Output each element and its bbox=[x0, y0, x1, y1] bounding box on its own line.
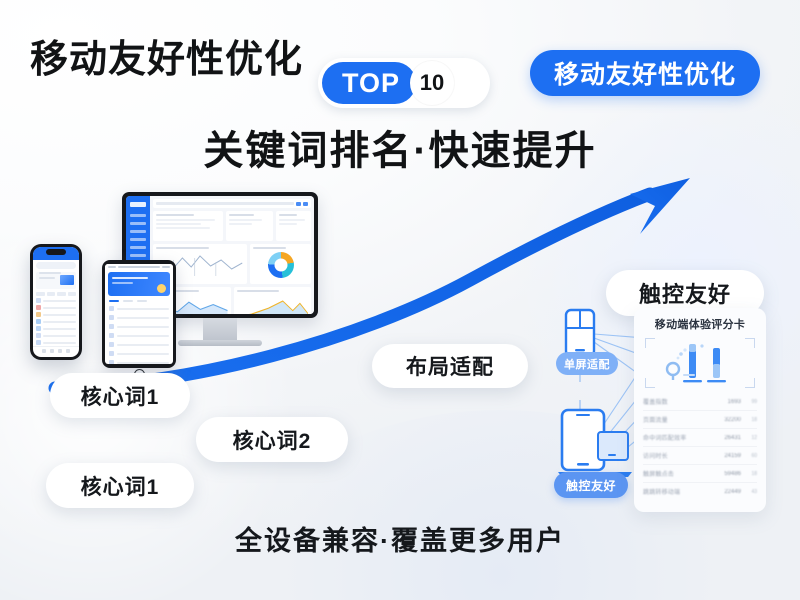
bar-chart-icon bbox=[643, 336, 757, 386]
row-value: 22449 bbox=[715, 489, 741, 495]
device-mockup-group bbox=[24, 192, 324, 392]
keyword-pill-1[interactable]: 核心词1 bbox=[50, 373, 190, 418]
frame-corner-br bbox=[745, 378, 755, 388]
footer-caption: 全设备兼容·覆盖更多用户 bbox=[0, 519, 800, 558]
top-badge-number: 10 bbox=[410, 61, 454, 105]
frame-corner-bl bbox=[645, 378, 655, 388]
table-row: 跳跳转移动端 22449 43 bbox=[643, 483, 757, 500]
top-badge-label: TOP bbox=[322, 62, 416, 104]
score-card-title: 移动端体验评分卡 bbox=[643, 316, 757, 332]
dashboard-mini-card bbox=[276, 211, 311, 241]
monitor-stand bbox=[203, 318, 237, 340]
phone-result-card bbox=[36, 272, 76, 289]
frame-corner-tr bbox=[745, 338, 755, 348]
row-name: 触屏触点击 bbox=[643, 469, 715, 478]
table-row: 触屏触点击 59486 18 bbox=[643, 465, 757, 483]
row-name: 页面流量 bbox=[643, 415, 715, 424]
keyword-pill-3[interactable]: 核心词1 bbox=[46, 463, 194, 508]
diagram-top-pill[interactable]: 单屏适配 bbox=[556, 352, 618, 375]
dashboard-toolbar bbox=[153, 199, 311, 208]
row-delta: 18 bbox=[741, 471, 757, 477]
table-row: 访问时长 24159 60 bbox=[643, 447, 757, 465]
row-name: 命中词匹配效率 bbox=[643, 433, 715, 442]
tablet-frame bbox=[102, 260, 176, 368]
row-value: 59486 bbox=[715, 471, 741, 477]
tablet-mockup bbox=[102, 260, 176, 380]
row-delta: 43 bbox=[741, 489, 757, 495]
row-name: 覆盖指数 bbox=[643, 397, 715, 406]
phone-mockup bbox=[30, 244, 82, 360]
dashboard-filter-card bbox=[153, 211, 223, 241]
row-delta: 12 bbox=[741, 435, 757, 441]
phone-frame bbox=[30, 244, 82, 360]
donut-chart-icon bbox=[268, 252, 294, 278]
row-value: 24159 bbox=[715, 453, 741, 459]
table-row: 命中词匹配效率 26431 12 bbox=[643, 429, 757, 447]
row-delta: 60 bbox=[741, 453, 757, 459]
score-card-chart bbox=[643, 336, 757, 390]
area-chart-icon-2 bbox=[237, 295, 309, 314]
tablet-banner bbox=[108, 272, 170, 296]
phone-search-bar bbox=[36, 262, 76, 269]
result-thumbnail-icon bbox=[60, 275, 74, 285]
row-delta: 18 bbox=[741, 417, 757, 423]
dashboard-stat-card bbox=[226, 211, 273, 241]
header-tag-pill: 移动友好性优化 bbox=[530, 50, 760, 96]
banner-badge-icon bbox=[157, 284, 166, 293]
table-row: 页面流量 32200 18 bbox=[643, 411, 757, 429]
monitor-base bbox=[178, 340, 262, 346]
row-value: 26431 bbox=[715, 435, 741, 441]
phone-tab-bar bbox=[33, 346, 79, 355]
row-value: 1693 bbox=[715, 399, 741, 405]
score-card-rows: 覆盖指数 1693 99 页面流量 32200 18 命中词匹配效率 26431… bbox=[643, 393, 757, 500]
poster-canvas: 移动友好性优化 TOP 10 移动友好性优化 关键词排名·快速提升 bbox=[0, 0, 800, 600]
frame-corner-tl bbox=[645, 338, 655, 348]
diagram-bottom-pill[interactable]: 触控友好 bbox=[554, 472, 628, 498]
layout-fit-pill[interactable]: 布局适配 bbox=[372, 344, 528, 388]
row-name: 跳跳转移动端 bbox=[643, 487, 715, 496]
row-name: 访问时长 bbox=[643, 451, 715, 460]
row-value: 32200 bbox=[715, 417, 741, 423]
table-row: 覆盖指数 1693 99 bbox=[643, 393, 757, 411]
mobile-score-card: 移动端体验评分卡 bbox=[634, 308, 766, 512]
mobile-experience-panel: 单屏适配 触控友好 移动端体验评分卡 bbox=[548, 300, 766, 518]
keyword-pill-2[interactable]: 核心词2 bbox=[196, 417, 348, 462]
phone-notch bbox=[46, 249, 66, 255]
dashboard-area-chart-card-b bbox=[234, 287, 312, 314]
page-title: 移动友好性优化 bbox=[30, 28, 303, 83]
dashboard-donut-card bbox=[250, 244, 311, 284]
top-rank-badge: TOP 10 bbox=[318, 58, 490, 108]
row-delta: 99 bbox=[741, 399, 757, 405]
